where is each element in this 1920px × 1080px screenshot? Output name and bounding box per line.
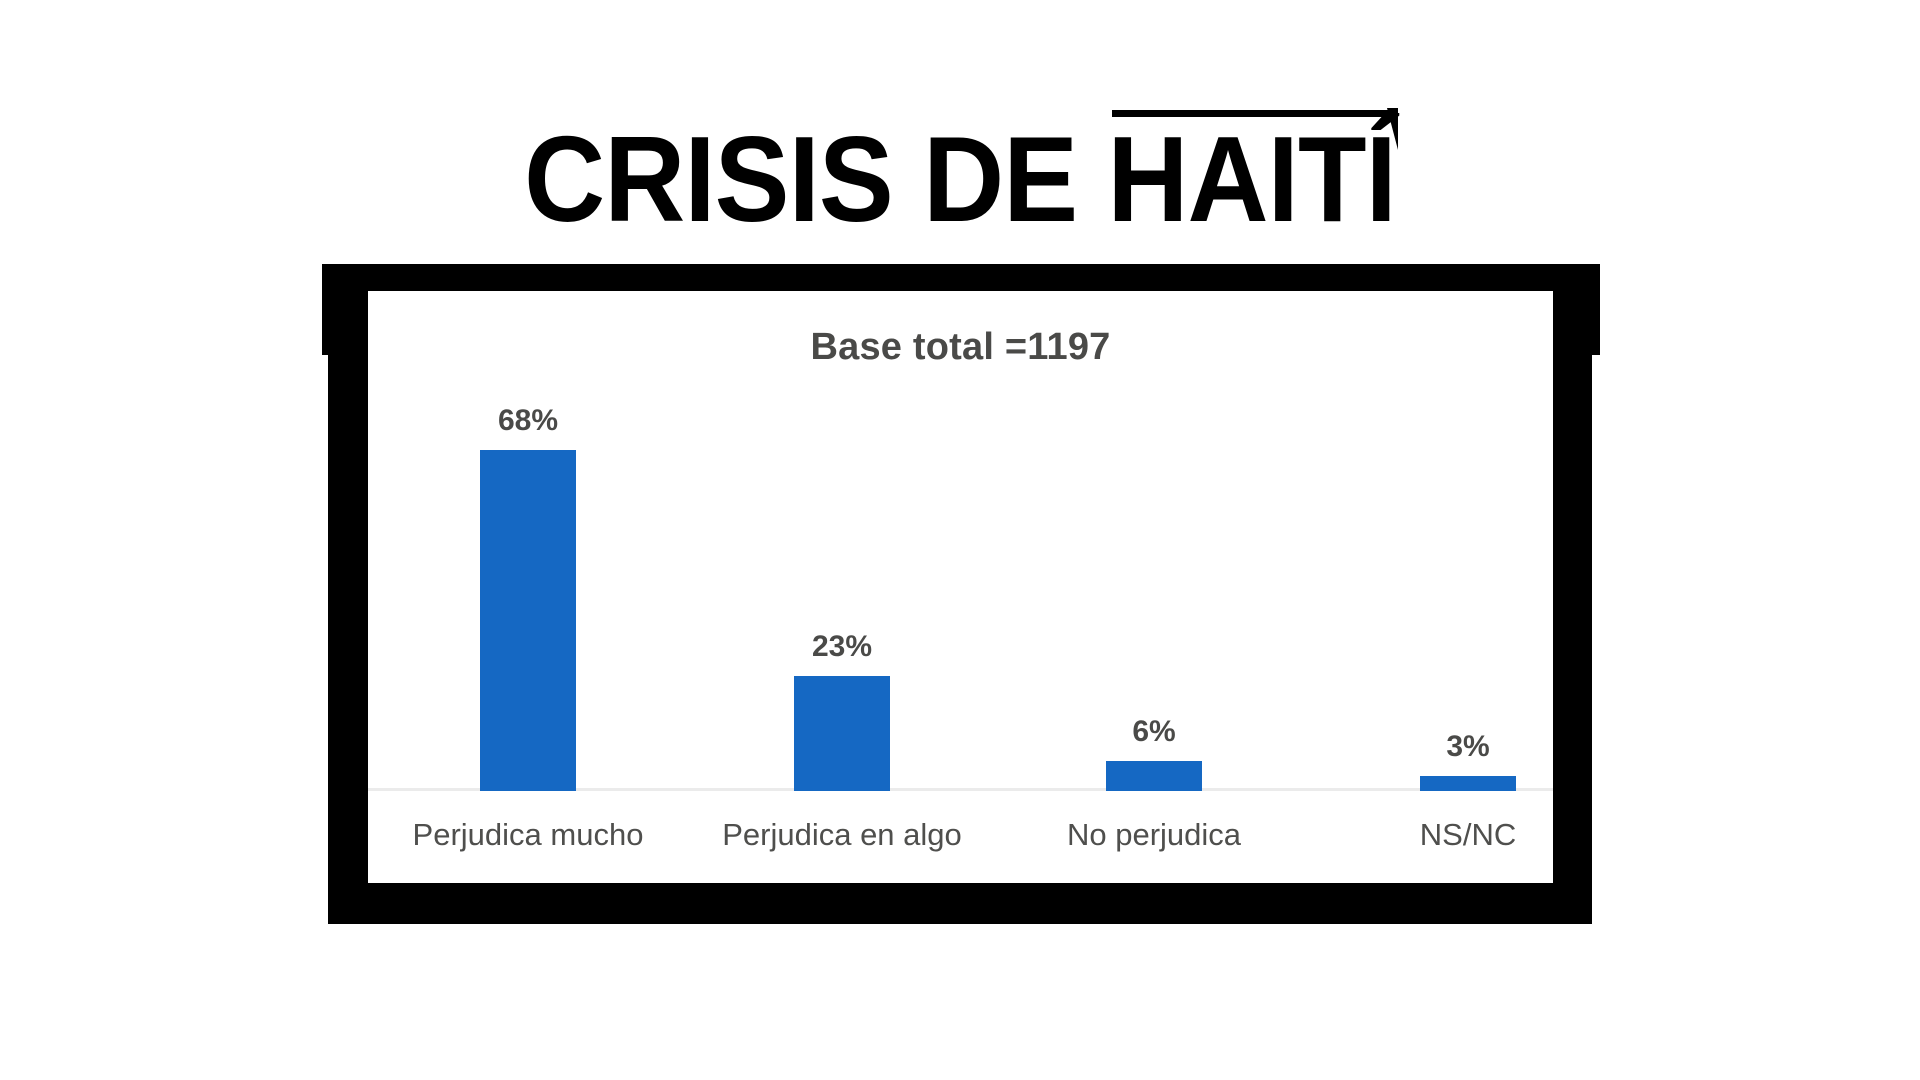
title-accent-stroke-icon bbox=[1377, 108, 1398, 150]
title-overline-decoration bbox=[1112, 110, 1396, 117]
frame-notch-left bbox=[322, 355, 328, 924]
chart-plot-area: 68% Perjudica mucho 23% Perjudica en alg… bbox=[368, 291, 1553, 883]
bar[interactable] bbox=[794, 676, 890, 791]
bar-column: 68% bbox=[380, 331, 676, 791]
bar-group: 68% Perjudica mucho bbox=[380, 331, 676, 791]
bar[interactable] bbox=[1420, 776, 1516, 791]
bar-value-label: 68% bbox=[498, 404, 558, 438]
category-label: Perjudica en algo bbox=[722, 817, 962, 853]
bar-column: 6% bbox=[1006, 331, 1302, 791]
category-label: No perjudica bbox=[1067, 817, 1241, 853]
bar[interactable] bbox=[1106, 761, 1202, 791]
bar-group: 23% Perjudica en algo bbox=[694, 331, 990, 791]
bar-group: 3% NS/NC bbox=[1320, 331, 1616, 791]
chart-canvas: Base total =1197 68% Perjudica mucho 23%… bbox=[368, 291, 1553, 883]
bar[interactable] bbox=[480, 450, 576, 791]
bar-value-label: 6% bbox=[1132, 715, 1175, 749]
bar-column: 3% bbox=[1320, 331, 1616, 791]
bar-value-label: 3% bbox=[1446, 730, 1489, 764]
bar-value-label: 23% bbox=[812, 630, 872, 664]
bar-group: 6% No perjudica bbox=[1006, 331, 1302, 791]
page-title: CRISIS DE HAITÍ bbox=[77, 118, 1843, 240]
category-label: NS/NC bbox=[1420, 817, 1516, 853]
bar-column: 23% bbox=[694, 331, 990, 791]
category-label: Perjudica mucho bbox=[413, 817, 644, 853]
